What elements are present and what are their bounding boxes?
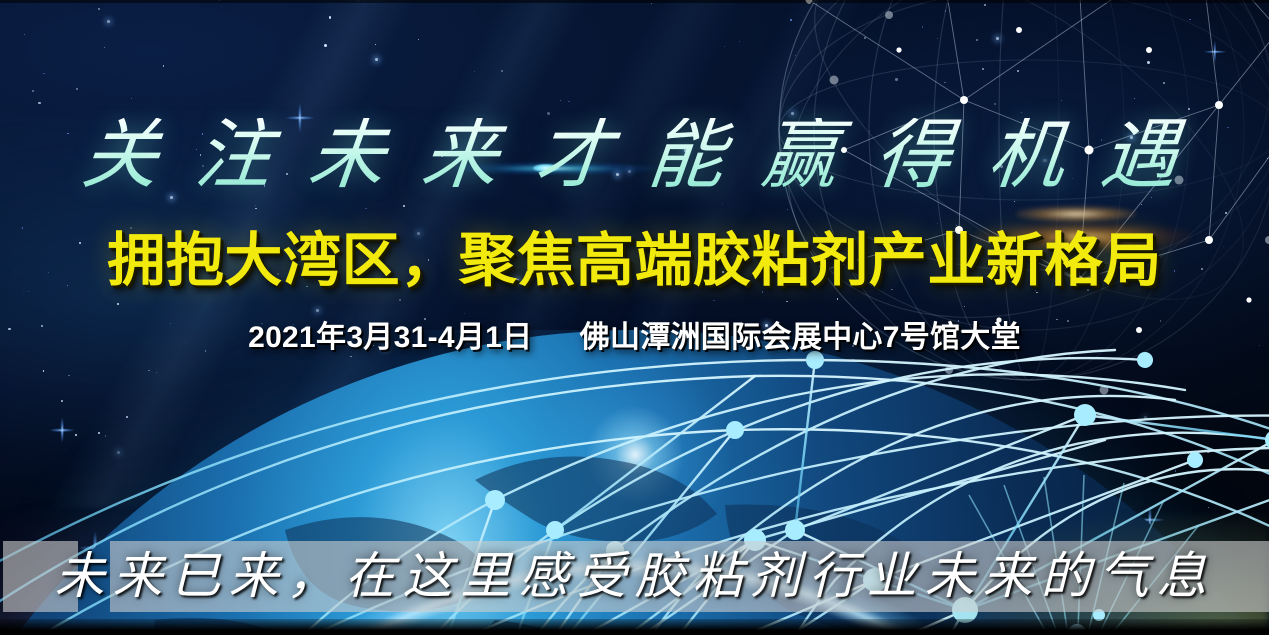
star bbox=[28, 291, 29, 292]
star bbox=[255, 208, 256, 209]
star bbox=[399, 299, 401, 301]
date-venue-line: 2021年3月31-4月1日 佛山潭洲国际会展中心7号馆大堂 bbox=[0, 323, 1269, 353]
star bbox=[568, 101, 569, 102]
star bbox=[98, 8, 100, 10]
tagline: 未来已来，在这里感受胶粘剂行业未来的气息 bbox=[0, 543, 1269, 609]
star bbox=[403, 205, 405, 207]
star bbox=[43, 73, 44, 74]
star bbox=[163, 65, 164, 66]
star bbox=[365, 208, 366, 209]
star bbox=[32, 90, 34, 92]
star bbox=[38, 102, 40, 104]
star bbox=[104, 47, 105, 48]
star bbox=[316, 309, 319, 312]
star bbox=[501, 70, 503, 72]
orange-lens-flare-core bbox=[1016, 206, 1136, 222]
star bbox=[324, 44, 327, 47]
star bbox=[22, 227, 23, 228]
star bbox=[474, 71, 475, 72]
star bbox=[117, 303, 119, 305]
event-date: 2021年3月31-4月1日 bbox=[248, 321, 532, 354]
star bbox=[464, 313, 465, 314]
banner-canvas: 关 注 未 来 才 能 赢 得 机 遇 拥抱大湾区，聚焦高端胶粘剂产业新格局 2… bbox=[0, 0, 1269, 635]
top-edge-bar bbox=[0, 0, 1269, 3]
bottom-edge-bar bbox=[0, 619, 1269, 635]
star bbox=[24, 34, 25, 35]
event-venue: 佛山潭洲国际会展中心7号馆大堂 bbox=[580, 321, 1021, 354]
star bbox=[418, 39, 419, 40]
star bbox=[76, 88, 78, 90]
star bbox=[722, 203, 723, 204]
star bbox=[255, 205, 256, 206]
star bbox=[713, 300, 714, 301]
page-title: 关 注 未 来 才 能 赢 得 机 遇 bbox=[0, 118, 1269, 194]
star bbox=[651, 3, 652, 4]
star bbox=[131, 98, 132, 99]
star bbox=[724, 46, 725, 47]
star bbox=[107, 20, 110, 23]
star bbox=[329, 16, 331, 18]
star bbox=[739, 41, 740, 42]
star bbox=[560, 100, 561, 101]
star bbox=[375, 44, 376, 45]
subtitle: 拥抱大湾区，聚焦高端胶粘剂产业新格局 bbox=[0, 232, 1269, 290]
star bbox=[375, 58, 378, 61]
